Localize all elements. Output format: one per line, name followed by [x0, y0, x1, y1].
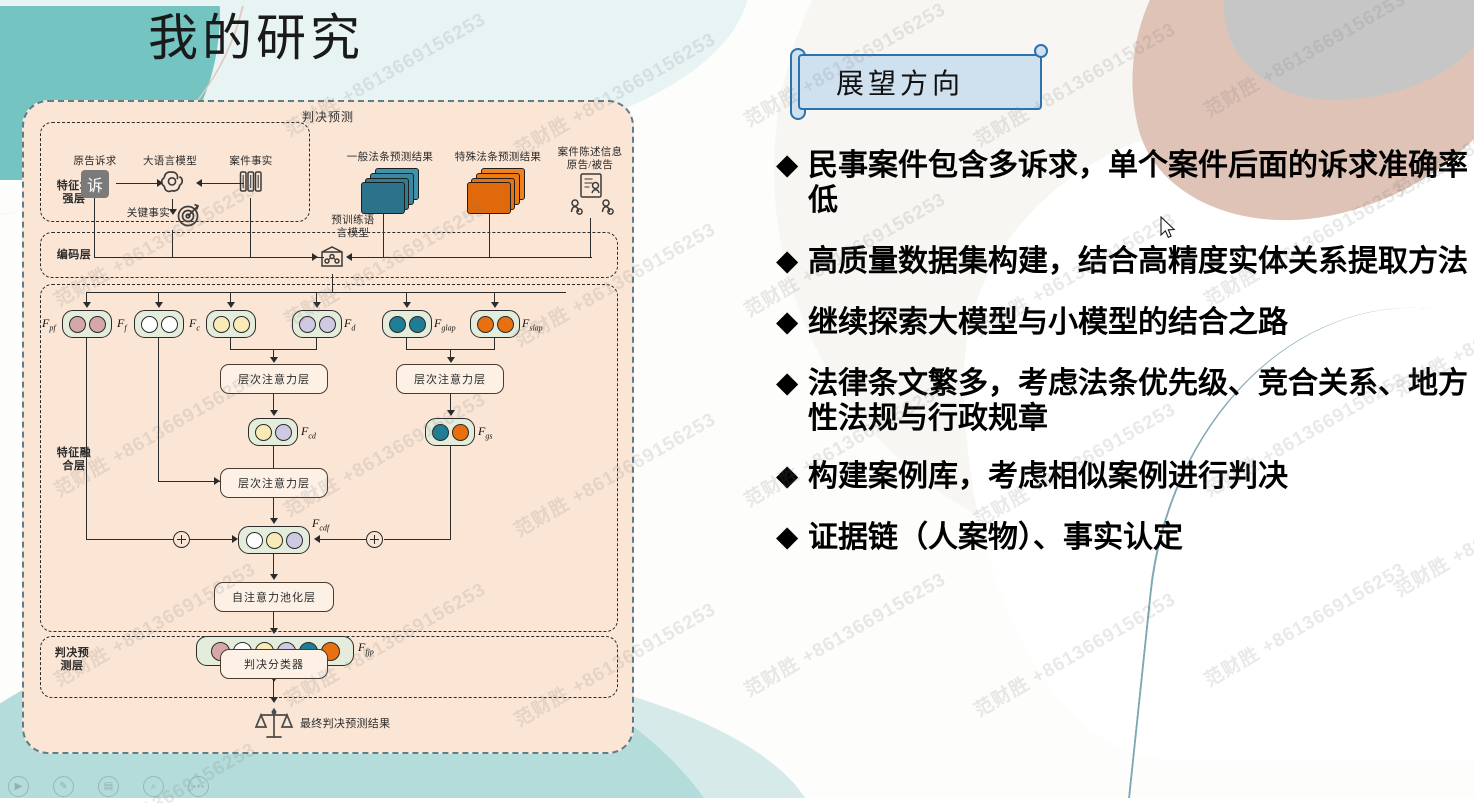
bullet-text: 民事案件包含多诉求，单个案件后面的诉求准确率低: [808, 148, 1474, 218]
more-icon[interactable]: •••: [188, 776, 209, 797]
layer-label-feature-fusion: 特征融合层: [46, 447, 102, 473]
process-box-hier-attn-3: 层次注意力层: [220, 468, 328, 498]
books-icon: [237, 168, 265, 196]
bullet-text: 高质量数据集构建，结合高精度实体关系提取方法: [808, 244, 1474, 279]
bus-right-to-encoder: [352, 257, 592, 258]
feature-vector-label-glap: Fglap: [434, 316, 456, 332]
diamond-bullet-icon: ◆: [774, 148, 808, 182]
vector-dot: [161, 316, 178, 333]
fanout-arrow-5: [403, 302, 411, 308]
layer-label-judgment-prediction: 判决预测层: [44, 647, 100, 673]
diamond-bullet-icon: ◆: [774, 366, 808, 400]
drop-general-law: [383, 214, 384, 258]
feature-vector-slap: [470, 310, 520, 338]
stack-teal-icon: [361, 168, 421, 214]
input-label-key-facts: 关键事实: [112, 208, 170, 220]
vector-dot: [477, 316, 494, 333]
vector-dot: [246, 532, 263, 549]
feature-vector-f: [134, 310, 184, 338]
feature-vector-label-gs: Fgs: [478, 424, 492, 440]
arrowhead-llm-to-keyfacts: [169, 209, 177, 215]
feature-vector-label-d: Fd: [344, 316, 355, 332]
feature-vector-cd: [248, 418, 298, 446]
diamond-bullet-icon: ◆: [774, 520, 808, 554]
scales-icon: [254, 704, 294, 744]
residual-pf-horizontal-b: [190, 539, 236, 540]
fanout-arrow-6: [491, 302, 499, 308]
outlook-pane: 展望方向 ◆ 民事案件包含多诉求，单个案件后面的诉求准确率低 ◆ 高质量数据集构…: [770, 0, 1474, 803]
research-architecture-diagram: 判决预测 特征增强层 编码层 特征融合层 判决预测层 原告诉求 诉 大语言模型 …: [22, 100, 634, 754]
feature-vector-d: [292, 310, 342, 338]
fanout-arrow-2: [155, 302, 163, 308]
classifier-out-arrow: [270, 697, 278, 703]
fanout-arrow-3: [227, 302, 235, 308]
banner-title: 展望方向: [836, 62, 1042, 102]
input-label-special-law: 特殊法条预测结果: [444, 152, 552, 164]
bullet-text: 法律条文繁多，考虑法条优先级、竞合关系、地方性法规与行政规章: [808, 366, 1474, 436]
claim-glyph-icon: 诉: [81, 170, 109, 198]
vector-dot: [319, 316, 336, 333]
bullet-list: ◆ 民事案件包含多诉求，单个案件后面的诉求准确率低 ◆ 高质量数据集构建，结合高…: [774, 148, 1474, 568]
stack-orange-icon: [467, 168, 527, 214]
bus-left-to-encoder: [94, 257, 324, 258]
merge-gs-arrow: [447, 357, 455, 363]
process-box-hier-attn-1: 层次注意力层: [220, 364, 328, 394]
encoder-output-line: [332, 274, 333, 292]
feature-vector-label-cd: Fcd: [301, 424, 316, 440]
magnifier-icon[interactable]: ⌕: [143, 776, 164, 797]
bullet-text: 构建案例库，考虑相似案例进行判决: [808, 459, 1474, 494]
slide-canvas: 我的研究 判决预测 特征增强层 编码层 特征融合层 判决预测层 原告诉求 诉 大…: [0, 0, 1474, 803]
cdf-to-pool-line: [273, 554, 274, 576]
presentation-toolbar[interactable]: ▶ ✎ ▤ ⌕ •••: [8, 776, 209, 797]
skip-f-horizontal: [158, 481, 220, 482]
fanout-arrow-4: [313, 302, 321, 308]
play-icon[interactable]: ▶: [8, 776, 29, 797]
arrowhead-bus-right: [346, 253, 352, 261]
diamond-bullet-icon: ◆: [774, 459, 808, 493]
final-output-label: 最终判决预测结果: [300, 718, 410, 731]
classifier-out-line: [273, 679, 274, 699]
process-box-hier-attn-2: 层次注意力层: [396, 364, 504, 394]
input-label-plaintiff-claim: 原告诉求: [64, 156, 126, 168]
attn3-out-line: [273, 498, 274, 520]
feature-vector-c: [206, 310, 256, 338]
feature-vector-label-slap: Fslap: [522, 316, 543, 332]
vector-dot: [275, 424, 292, 441]
input-label-general-law: 一般法条预测结果: [336, 152, 444, 164]
target-icon: [174, 200, 204, 230]
vector-dot: [255, 424, 272, 441]
vector-dot: [432, 424, 449, 441]
process-box-classifier: 判决分类器: [220, 649, 328, 679]
residual-gs-horizontal-b: [320, 539, 366, 540]
list-item: ◆ 民事案件包含多诉求，单个案件后面的诉求准确率低: [774, 148, 1474, 218]
list-item: ◆ 高质量数据集构建，结合高精度实体关系提取方法: [774, 244, 1474, 279]
feature-vector-label-pf: Fpf: [42, 316, 56, 332]
list-item: ◆ 构建案例库，考虑相似案例进行判决: [774, 459, 1474, 494]
encoder-label: 预训练语言模型: [320, 214, 386, 240]
residual-gs-arrow: [314, 535, 320, 543]
stamp-icon[interactable]: ▤: [98, 776, 119, 797]
plus-node-right[interactable]: [366, 531, 383, 548]
feature-vector-gs: [425, 418, 475, 446]
drop-facts: [250, 198, 251, 258]
residual-pf-horizontal-a: [86, 539, 174, 540]
cdf-to-pool-arrow: [270, 574, 278, 580]
diamond-bullet-icon: ◆: [774, 305, 808, 339]
vector-dot: [141, 316, 158, 333]
arrow-claim-to-llm: [116, 183, 158, 184]
pool-out-arrow: [270, 628, 278, 634]
bullet-text: 继续探索大模型与小模型的结合之路: [808, 305, 1474, 340]
list-item: ◆ 法律条文繁多，考虑法条优先级、竞合关系、地方性法规与行政规章: [774, 366, 1474, 436]
residual-pf-arrow: [232, 535, 238, 543]
vector-dot: [299, 316, 316, 333]
magnifier-glyph: ⌕: [151, 781, 157, 792]
attn2-out-arrow: [447, 410, 455, 416]
attn1-out-arrow: [270, 410, 278, 416]
fanout-arrow-1: [83, 302, 91, 308]
arrowhead-bus-left: [312, 253, 318, 261]
banner-scroll-right: [1034, 44, 1048, 58]
stamp-glyph: ▤: [104, 781, 113, 792]
drop-keyfacts: [172, 230, 173, 258]
feature-vector-label-f: Ff: [117, 316, 127, 332]
skip-f-vertical: [158, 338, 159, 482]
merge-cd-arrow: [270, 357, 278, 363]
feature-vector-label-fjp: Ffjp: [358, 640, 374, 656]
feature-vector-glap: [382, 310, 432, 338]
feature-vector-cdf: [238, 526, 310, 554]
feature-vector-label-cdf: Fcdf: [312, 516, 329, 532]
play-glyph: ▶: [15, 781, 23, 792]
pen-icon[interactable]: ✎: [53, 776, 74, 797]
drop-case-statement: [590, 218, 591, 258]
vector-dot: [409, 316, 426, 333]
input-label-case-facts: 案件事实: [220, 156, 282, 168]
page-title: 我的研究: [148, 0, 364, 70]
feature-vector-pf: [62, 310, 112, 338]
residual-pf-vertical: [86, 338, 87, 540]
residual-gs-horizontal-a: [384, 539, 451, 540]
input-label-case-statement: 案件陈述信息原告/被告: [548, 146, 632, 172]
feature-vector-label-c: Fc: [189, 316, 200, 332]
attn3-out-arrow: [270, 518, 278, 524]
vector-dot: [89, 316, 106, 333]
arrow-facts-to-llm: [202, 183, 244, 184]
section-banner: 展望方向: [784, 48, 1054, 116]
bullet-text: 证据链（人案物）、事实认定: [808, 520, 1474, 555]
vector-dot: [213, 316, 230, 333]
residual-gs-vertical: [450, 446, 451, 540]
plus-node-left[interactable]: [173, 531, 190, 548]
vector-dot: [233, 316, 250, 333]
pen-glyph: ✎: [59, 781, 67, 792]
mouse-cursor: [1159, 216, 1179, 242]
arrowhead-claim-to-llm: [157, 179, 163, 187]
drop-special-law: [489, 214, 490, 258]
diamond-bullet-icon: ◆: [774, 244, 808, 278]
vector-dot: [389, 316, 406, 333]
document-people-icon: [564, 172, 616, 218]
vector-dot: [266, 532, 283, 549]
arrowhead-facts-to-llm: [196, 179, 202, 187]
list-item: ◆ 继续探索大模型与小模型的结合之路: [774, 305, 1474, 340]
diagram-title: 判决预测: [302, 108, 354, 125]
drop-claim: [94, 198, 95, 258]
process-box-self-attn-pool: 自注意力池化层: [214, 582, 334, 612]
vector-dot: [69, 316, 86, 333]
vector-dot: [286, 532, 303, 549]
vector-dot: [452, 424, 469, 441]
vector-dot: [497, 316, 514, 333]
more-glyph: •••: [192, 783, 204, 791]
list-item: ◆ 证据链（人案物）、事实认定: [774, 520, 1474, 555]
